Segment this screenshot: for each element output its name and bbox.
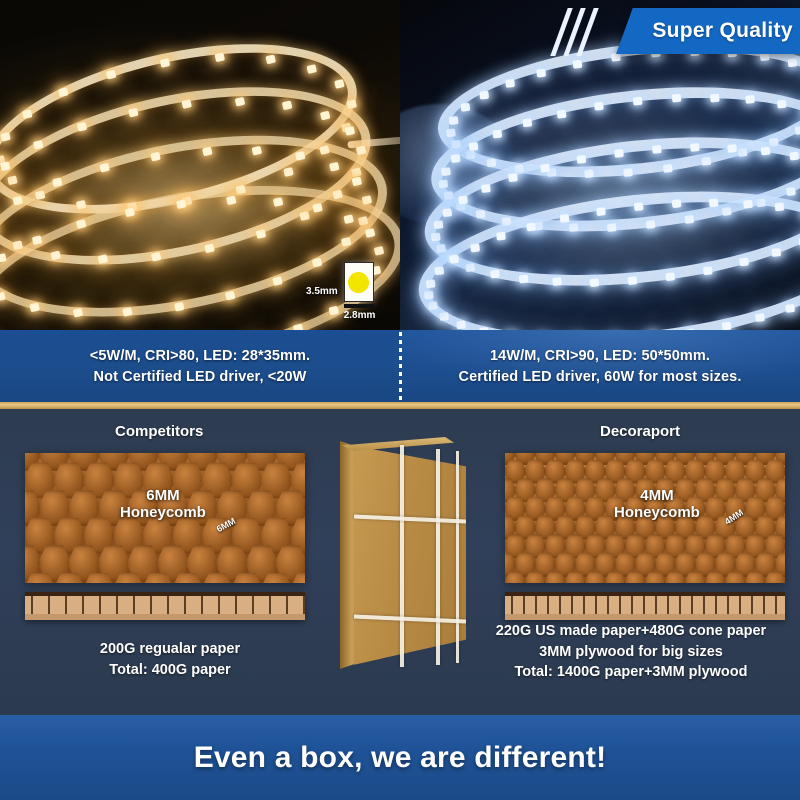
corrugation-rib [31,596,33,614]
decoraport-paper-description: 220G US made paper+480G cone paper 3MM p… [466,621,796,683]
led-chip-base [344,304,374,308]
corrugation-rib [218,596,220,614]
competitor-corrugated-edge [25,592,305,620]
corrugation-rib [252,596,254,614]
corrugation-rib [65,596,67,614]
footer-banner: Even a box, we are different! [0,715,800,800]
corrugation-rib [286,596,288,614]
decoraport-desc-line-3: Total: 1400G paper+3MM plywood [466,662,796,683]
corrugation-rib [235,596,237,614]
corrugation-rib [82,596,84,614]
corrugation-rib [667,596,669,614]
competitor-chip-callout: 3.5mm 2.8mm [306,262,375,321]
corrugation-rib [775,596,777,614]
chip-height-label: 3.5mm [306,286,338,297]
carton-strap [436,449,440,665]
corrugation-rib [559,596,561,614]
corrugation-rib [595,596,597,614]
corrugation-rib [150,596,152,614]
corrugation-rib [631,596,633,614]
competitor-spec-line-1: <5W/M, CRI>80, LED: 28*35mm. [90,348,310,364]
cool-led-coil [400,22,800,330]
product-photo-row: 3.5mm 2.8mm [0,0,800,330]
decoraport-honeycomb-label: 4MM Honeycomb [614,487,700,522]
corrugation-rib [583,596,585,614]
corrugation-rib [303,596,305,614]
competitor-desc-line-2: Total: 400G paper [30,660,310,681]
competitor-led-photo: 3.5mm 2.8mm [0,0,400,330]
corrugation-rib [535,596,537,614]
carton-strap [400,445,404,667]
corrugation-rib [739,596,741,614]
corrugation-rib [763,596,765,614]
corrugation-rib [715,596,717,614]
competitor-paper-description: 200G regualar paper Total: 400G paper [30,639,310,680]
corrugation-rib [619,596,621,614]
corrugation-rib [727,596,729,614]
competitor-desc-line-1: 200G regualar paper [30,639,310,660]
decoraport-desc-line-1: 220G US made paper+480G cone paper [466,621,796,642]
decoraport-spec-line-2: Certified LED driver, 60W for most sizes… [459,369,742,385]
corrugation-rib [655,596,657,614]
decoraport-desc-line-2: 3MM plywood for big sizes [466,642,796,663]
corrugation-rib [643,596,645,614]
corrugation-rib [48,596,50,614]
competitor-honeycomb-label: 6MM Honeycomb [120,487,206,522]
packaging-comparison-section: Competitors Decoraport 200G regualar pap… [0,409,800,715]
corrugation-rib [116,596,118,614]
corrugation-rib [269,596,271,614]
corrugation-rib [511,596,513,614]
corrugation-rib [167,596,169,614]
super-quality-banner: Super Quality [616,8,800,54]
corrugation-rib [571,596,573,614]
footer-headline: Even a box, we are different! [194,741,607,775]
corrugation-rib [547,596,549,614]
competitor-spec-line-2: Not Certified LED driver, <20W [94,369,307,385]
chip-width-label: 2.8mm [344,310,376,321]
decoraport-spec-line-1: 14W/M, CRI>90, LED: 50*50mm. [490,348,710,364]
decoraport-spec-block: 14W/M, CRI>90, LED: 50*50mm. Certified L… [400,330,800,402]
decoraport-led-photo: 5mm 5mm Super Quality [400,0,800,330]
gold-divider-rule [0,402,800,409]
carton-strap [456,451,459,663]
corrugation-rib [523,596,525,614]
super-quality-label: Super Quality [652,19,792,43]
honeycomb-size-label: 4MM [614,487,700,504]
shipping-carton-illustration [338,431,474,689]
vertical-dotted-divider [399,332,402,400]
decoraport-corrugated-edge [505,592,785,620]
corrugation-rib [184,596,186,614]
corrugation-rib [133,596,135,614]
corrugation-rib [607,596,609,614]
honeycomb-type-label: Honeycomb [614,504,700,521]
corrugation-rib [679,596,681,614]
led-chip-body [344,262,374,302]
corrugation-rib [201,596,203,614]
competitors-column-title: Competitors [115,423,203,440]
corrugation-rib [99,596,101,614]
infographic-page: 3.5mm 2.8mm [0,0,800,800]
decoraport-column-title: Decoraport [600,423,680,440]
corrugation-rib [703,596,705,614]
carton-front-panel [354,439,466,667]
competitor-spec-block: <5W/M, CRI>80, LED: 28*35mm. Not Certifi… [0,330,400,402]
led-emitter [348,272,369,293]
corrugation-rib [691,596,693,614]
honeycomb-size-label: 6MM [120,487,206,504]
honeycomb-type-label: Honeycomb [120,504,206,521]
corrugation-rib [751,596,753,614]
